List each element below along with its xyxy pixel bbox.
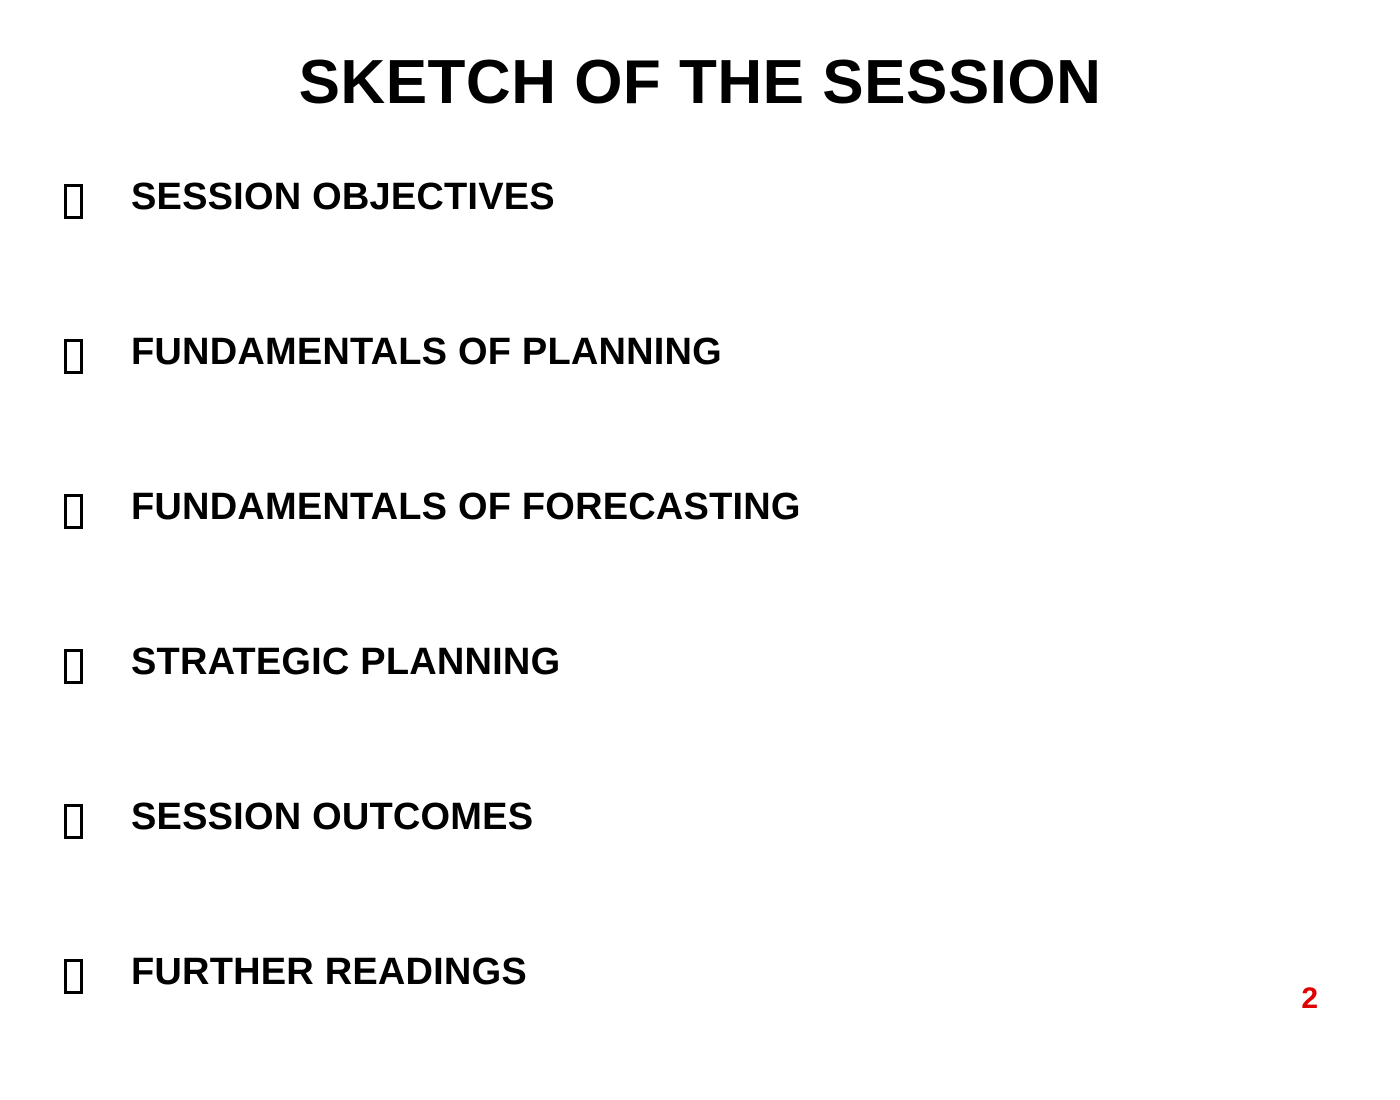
page-number: 2 [1301, 984, 1318, 1014]
bullet-box-icon [64, 184, 83, 219]
list-item-label: SESSION OBJECTIVES [131, 178, 555, 216]
list-item-label: FUNDAMENTALS OF PLANNING [131, 333, 722, 371]
list-item[interactable]: SESSION OBJECTIVES [0, 170, 1400, 325]
list-item[interactable]: FURTHER READINGS [0, 945, 1400, 1100]
list-item[interactable]: FUNDAMENTALS OF PLANNING [0, 325, 1400, 480]
bullet-box-icon [64, 804, 83, 839]
bullet-box-icon [64, 959, 83, 994]
outline-list: SESSION OBJECTIVES FUNDAMENTALS OF PLANN… [0, 170, 1400, 1100]
list-item-label: FUNDAMENTALS OF FORECASTING [131, 488, 801, 526]
list-item[interactable]: STRATEGIC PLANNING [0, 635, 1400, 790]
list-item-label: FURTHER READINGS [131, 953, 527, 991]
slide: SKETCH OF THE SESSION SESSION OBJECTIVES… [0, 0, 1400, 1050]
list-item-label: STRATEGIC PLANNING [131, 643, 560, 681]
list-item[interactable]: SESSION OUTCOMES [0, 790, 1400, 945]
list-item[interactable]: FUNDAMENTALS OF FORECASTING [0, 480, 1400, 635]
bullet-box-icon [64, 339, 83, 374]
bullet-box-icon [64, 494, 83, 529]
page-title: SKETCH OF THE SESSION [0, 52, 1400, 114]
bullet-box-icon [64, 649, 83, 684]
list-item-label: SESSION OUTCOMES [131, 798, 533, 836]
